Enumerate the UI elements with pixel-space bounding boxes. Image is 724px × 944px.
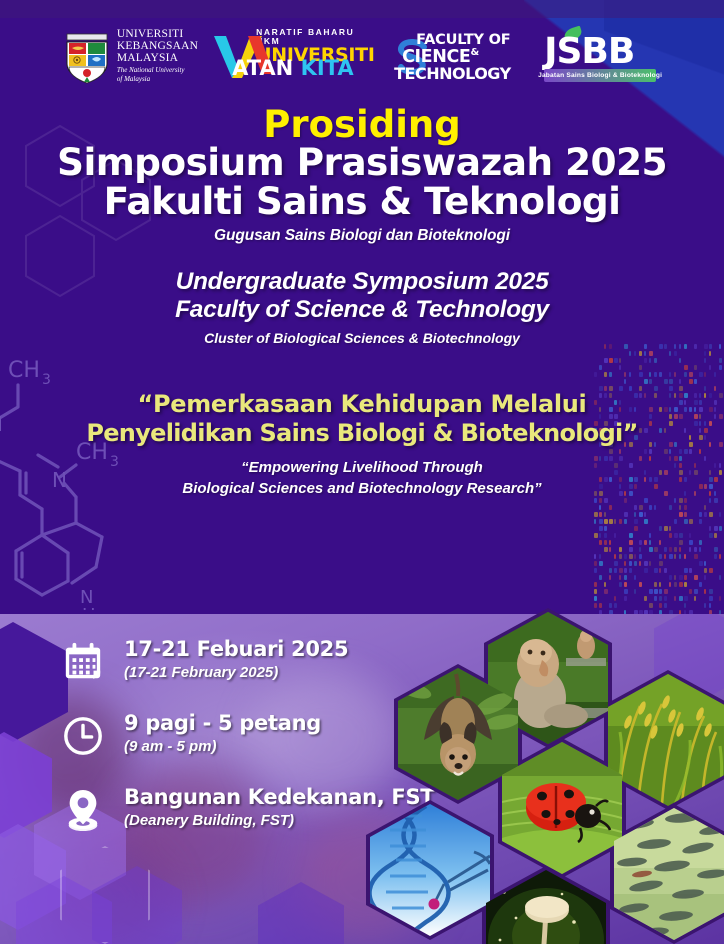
event-info-list: 17-21 Febuari 2025 (17-21 February 2025)…	[60, 638, 390, 860]
watan-kita-kita: KITA	[301, 56, 354, 80]
fst-wordmark: FACULTY OF CIENCE& TECHNOLOGY	[416, 34, 511, 81]
svg-text:H: H	[82, 605, 96, 610]
info-row-location: Bangunan Kedekanan, FST (Deanery Buildin…	[60, 786, 390, 834]
date-primary: 17-21 Febuari 2025	[124, 638, 348, 662]
theme-en-line2: Biological Sciences and Biotechnology Re…	[0, 478, 724, 499]
time-primary: 9 pagi - 5 petang	[124, 712, 321, 736]
poster-root: CH 3 N CH 3 N	[0, 0, 724, 944]
header-logos: UNIVERSITI KEBANGSAAN MALAYSIA The Natio…	[0, 20, 724, 92]
english-line1: Undergraduate Symposium 2025	[0, 268, 724, 296]
title-line3: Gugusan Sains Biologi dan Bioteknologi	[0, 227, 724, 245]
watan-kita-watan-kita: ATAN KITA	[232, 58, 354, 79]
jsbb-tagline: Jabatan Sains Biologi & Bioteknologi	[538, 72, 662, 79]
title-line2: Fakulti Sains & Teknologi	[0, 182, 724, 222]
fst-line3: TECHNOLOGY	[394, 66, 511, 81]
clock-icon	[60, 712, 106, 760]
english-line2: Faculty of Science & Technology	[0, 296, 724, 324]
top-purple-panel: CH 3 N CH 3 N	[0, 0, 724, 614]
fst-logo: FACULTY OF CIENCE& TECHNOLOGY	[394, 29, 526, 83]
prosiding-label: Prosiding	[0, 106, 724, 144]
theme-block: “Pemerkasaan Kehidupan Melalui Penyelidi…	[0, 390, 724, 499]
theme-ms-line2: Penyelidikan Sains Biologi & Bioteknolog…	[0, 419, 724, 448]
english-line3: Cluster of Biological Sciences & Biotech…	[0, 330, 724, 346]
title-line1: Simposium Prasiswazah 2025	[0, 142, 724, 183]
fst-amp: &	[470, 47, 478, 58]
time-secondary: (9 am - 5 pm)	[124, 738, 321, 756]
info-row-date: 17-21 Febuari 2025 (17-21 February 2025)	[60, 638, 390, 686]
watan-kita-logo: NARATIF BAHARU UKM UNIVERSITI ATAN KITA	[212, 28, 380, 84]
mushrooms-photo	[486, 870, 606, 944]
info-text-date: 17-21 Febuari 2025 (17-21 February 2025)	[124, 638, 348, 682]
jsbb-acronym: JSBB	[544, 34, 664, 70]
hexagon-photo-collage	[372, 608, 724, 944]
fst-line2: CIENCE&	[402, 48, 511, 66]
jsbb-logo: JSBB Jabatan Sains Biologi & Bioteknolog…	[540, 28, 660, 84]
jsbb-tagline-bar: Jabatan Sains Biologi & Bioteknologi	[544, 69, 656, 82]
svg-text:3: 3	[42, 372, 51, 388]
ukm-sub2: of Malaysia	[117, 75, 198, 83]
watan-kita-watan: ATAN	[232, 56, 293, 80]
header-strip	[0, 0, 724, 18]
info-row-time: 9 pagi - 5 petang (9 am - 5 pm)	[60, 712, 390, 760]
svg-text:CH: CH	[8, 358, 40, 383]
info-text-time: 9 pagi - 5 petang (9 am - 5 pm)	[124, 712, 321, 756]
english-title-block: Undergraduate Symposium 2025 Faculty of …	[0, 268, 724, 346]
location-pin-icon	[60, 786, 106, 834]
ukm-logo: UNIVERSITI KEBANGSAAN MALAYSIA The Natio…	[64, 28, 198, 84]
calendar-icon	[60, 638, 106, 686]
svg-text:N: N	[80, 587, 93, 608]
theme-en-line1: “Empowering Livelihood Through	[0, 457, 724, 478]
ukm-crest-icon	[64, 28, 110, 84]
ukm-sub1: The National University	[117, 66, 198, 74]
theme-ms-line1: “Pemerkasaan Kehidupan Melalui	[0, 390, 724, 419]
ukm-wordmark: UNIVERSITI KEBANGSAAN MALAYSIA The Natio…	[117, 29, 198, 83]
date-secondary: (17-21 February 2025)	[124, 664, 348, 682]
main-title-block: Prosiding Simposium Prasiswazah 2025 Fak…	[0, 106, 724, 245]
ukm-line3: MALAYSIA	[117, 53, 198, 65]
